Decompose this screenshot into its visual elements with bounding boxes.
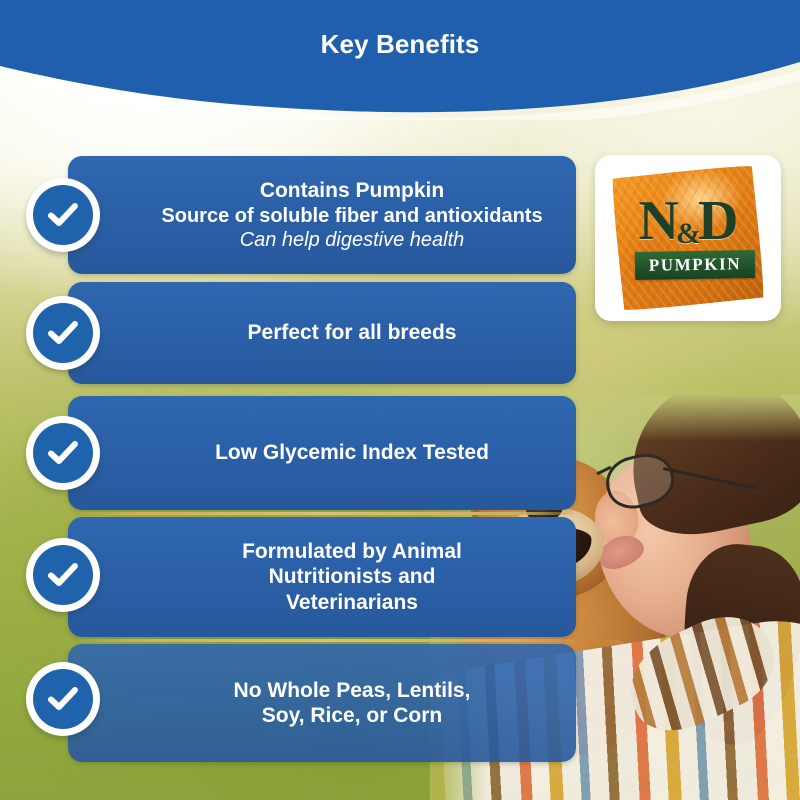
benefit-line: No Whole Peas, Lentils, (154, 678, 550, 703)
check-icon (26, 178, 100, 252)
brand-variant-label: PUMPKIN (649, 254, 742, 276)
brand-logo-card[interactable]: N&D PUMPKIN (595, 155, 781, 321)
check-icon (26, 296, 100, 370)
benefit-line: Source of soluble fiber and antioxidants (154, 204, 550, 228)
check-glyph (46, 316, 80, 350)
check-icon-circle (33, 423, 93, 483)
benefit-card-4[interactable]: Formulated by Animal Nutritionists and V… (68, 517, 576, 637)
benefit-card-2-text: Perfect for all breeds (68, 320, 576, 345)
check-glyph (46, 198, 80, 232)
benefit-card-3-text: Low Glycemic Index Tested (68, 440, 576, 465)
page-title: Key Benefits (0, 29, 800, 60)
brand-ampersand: & (676, 217, 700, 250)
benefit-card-1-text: Contains Pumpkin Source of soluble fiber… (68, 178, 576, 252)
benefit-line: Low Glycemic Index Tested (154, 440, 550, 465)
check-icon (26, 662, 100, 736)
benefit-line: Nutritionists and (154, 564, 550, 589)
check-icon (26, 538, 100, 612)
brand-letter-d: D (698, 190, 737, 252)
check-glyph (46, 558, 80, 592)
benefit-card-1[interactable]: Contains Pumpkin Source of soluble fiber… (68, 156, 576, 274)
card-divider-4-5 (78, 639, 574, 642)
benefit-card-3[interactable]: Low Glycemic Index Tested (68, 396, 576, 510)
benefit-line: Can help digestive health (154, 228, 550, 252)
check-glyph (46, 682, 80, 716)
brand-letter-n: N (639, 190, 678, 252)
infographic-canvas: Key Benefits Contains Pumpkin Source of … (0, 0, 800, 800)
check-glyph (46, 436, 80, 470)
benefit-card-5[interactable]: No Whole Peas, Lentils, Soy, Rice, or Co… (68, 644, 576, 762)
brand-logo-text: N&D (595, 193, 781, 249)
benefit-line: Perfect for all breeds (154, 320, 550, 345)
benefit-line: Contains Pumpkin (154, 178, 550, 203)
check-icon-circle (33, 185, 93, 245)
benefit-card-2[interactable]: Perfect for all breeds (68, 282, 576, 384)
header-banner (0, 0, 800, 120)
check-icon-circle (33, 545, 93, 605)
check-icon (26, 416, 100, 490)
benefit-card-4-text: Formulated by Animal Nutritionists and V… (68, 539, 576, 615)
brand-logo-inner: N&D PUMPKIN (595, 155, 781, 321)
check-icon-circle (33, 669, 93, 729)
benefits-list: Contains Pumpkin Source of soluble fiber… (0, 0, 800, 800)
benefit-line: Veterinarians (154, 590, 550, 615)
benefit-line: Soy, Rice, or Corn (154, 703, 550, 728)
benefit-card-5-text: No Whole Peas, Lentils, Soy, Rice, or Co… (68, 678, 576, 729)
card-divider-3-4 (78, 512, 574, 515)
brand-variant-ribbon: PUMPKIN (635, 250, 755, 280)
benefit-line: Formulated by Animal (154, 539, 550, 564)
check-icon-circle (33, 303, 93, 363)
